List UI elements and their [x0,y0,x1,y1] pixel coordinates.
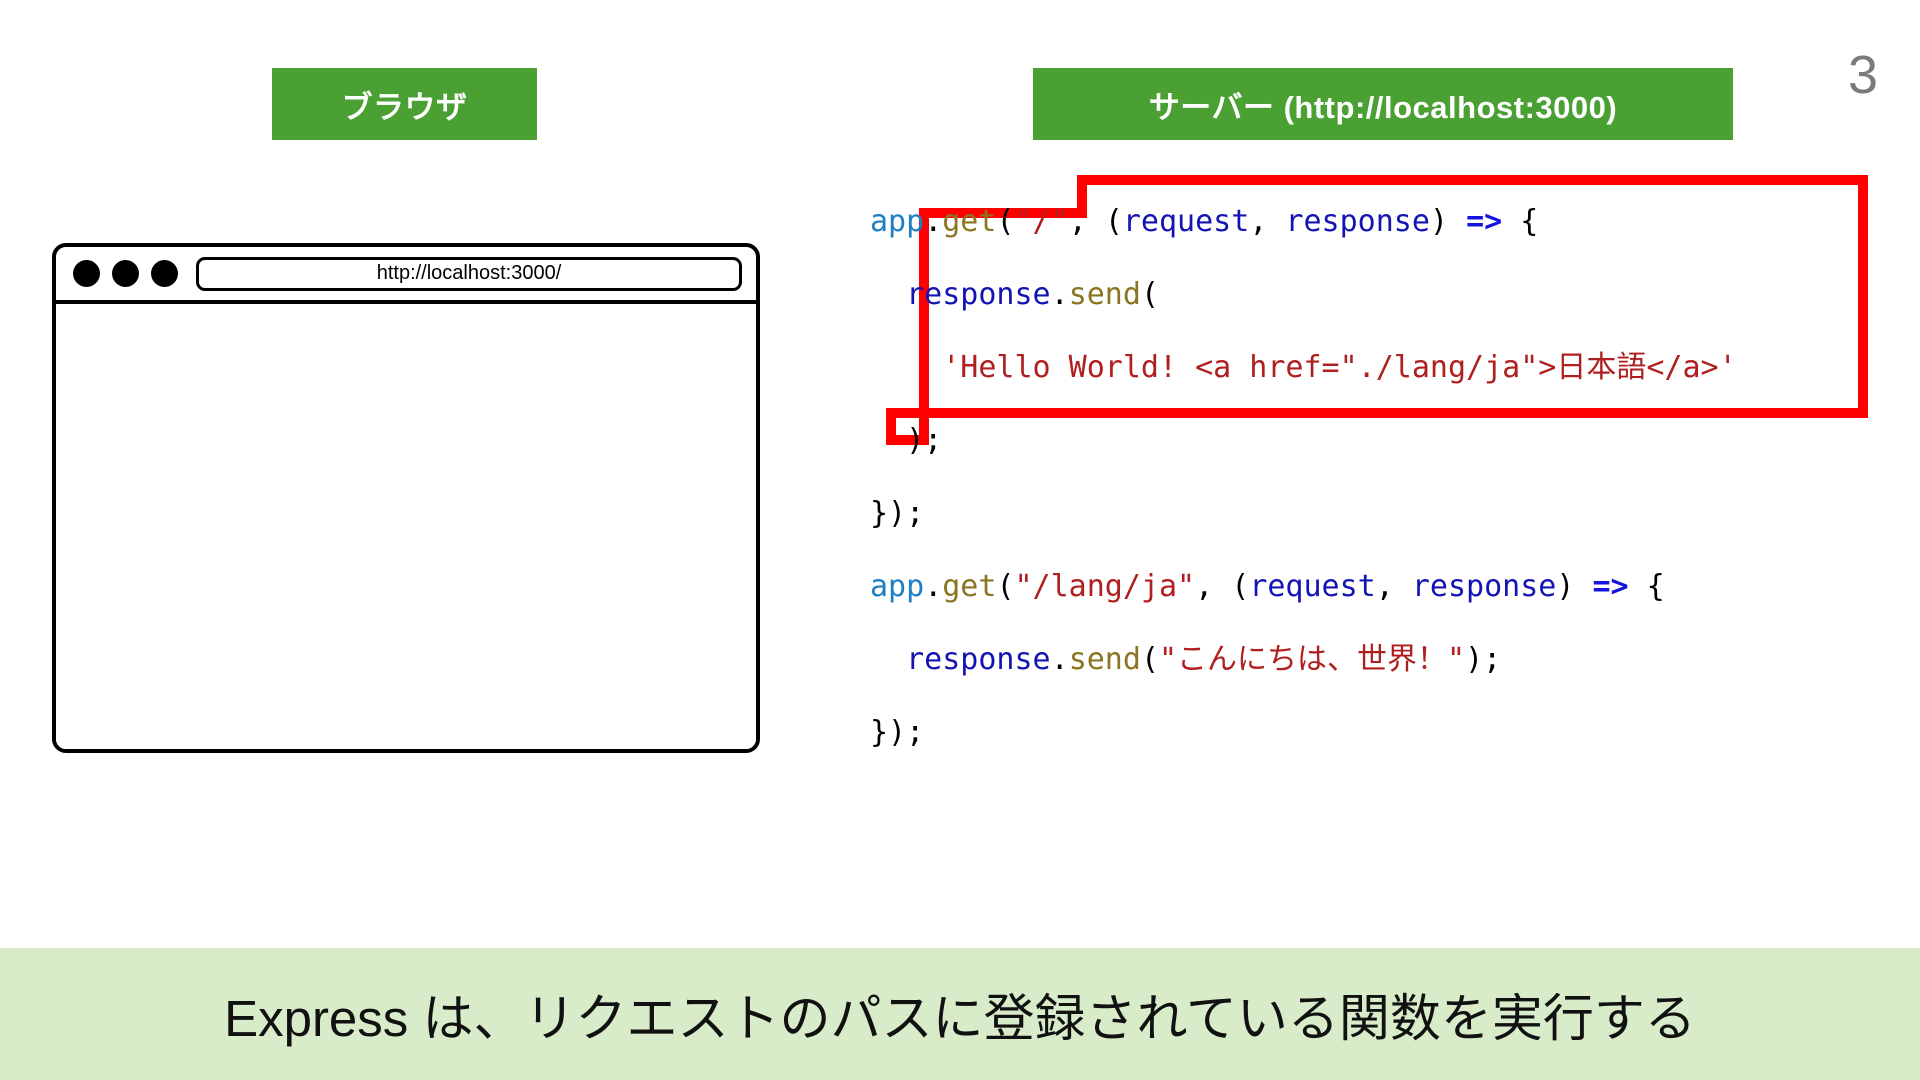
code-token-punctuation: . [924,204,942,239]
code-token-method: get [942,204,996,239]
code-token-punctuation: , [1195,569,1231,604]
code-token-punctuation: , [1069,204,1105,239]
code-token-punctuation: ) [1430,204,1448,239]
code-token-object: app [870,569,924,604]
code-token-arrow: => [1466,204,1502,239]
code-token-param: request [1123,204,1249,239]
caption-bar: Express は、リクエストのパスに登録されている関数を実行する [0,948,1920,1080]
traffic-light-group [73,260,178,287]
code-token-object: app [870,204,924,239]
code-line: }); [870,696,1737,769]
code-line: response.send( [870,258,1737,331]
browser-chrome: http://localhost:3000/ [56,247,756,304]
code-token-arrow: => [1593,569,1629,604]
code-token-punctuation: ( [1231,569,1249,604]
code-token-punctuation [870,642,906,677]
code-token-string: 'Hello World! <a href="./lang/ja">日本語</a… [942,350,1736,385]
code-token-punctuation: }); [870,715,924,750]
code-line: }); [870,477,1737,550]
code-token-punctuation: ) [1556,569,1574,604]
code-token-punctuation: ); [1465,642,1501,677]
code-line: 'Hello World! <a href="./lang/ja">日本語</a… [870,331,1737,404]
code-line: app.get("/lang/ja", (request, response) … [870,550,1737,623]
code-token-punctuation: { [1629,569,1665,604]
url-bar-input[interactable]: http://localhost:3000/ [196,257,742,291]
code-token-punctuation [870,277,906,312]
code-line: ); [870,404,1737,477]
code-line: app.get("/", (request, response) => { [870,185,1737,258]
code-token-punctuation [1574,569,1592,604]
code-token-string: "こんにちは、世界！" [1159,642,1465,677]
code-token-punctuation: ( [996,204,1014,239]
code-token-punctuation [870,350,942,385]
code-token-punctuation: ( [996,569,1014,604]
code-block: app.get("/", (request, response) => { re… [870,185,1737,769]
code-token-method: send [1069,642,1141,677]
code-token-param: response [1285,204,1430,239]
code-line: response.send("こんにちは、世界！"); [870,623,1737,696]
code-token-param: response [906,277,1051,312]
banner-server: サーバー (http://localhost:3000) [1033,68,1733,140]
page-number: 3 [1848,48,1878,102]
code-token-punctuation: . [924,569,942,604]
code-token-punctuation: ( [1141,642,1159,677]
code-token-punctuation [1448,204,1466,239]
code-token-string: "/lang/ja" [1015,569,1196,604]
code-token-punctuation: , [1376,569,1412,604]
code-token-punctuation: , [1249,204,1285,239]
code-token-punctuation: }); [870,496,924,531]
caption-text: Express は、リクエストのパスに登録されている関数を実行する [224,977,1696,1051]
code-token-punctuation: ( [1141,277,1159,312]
code-token-method: get [942,569,996,604]
code-token-method: send [1069,277,1141,312]
code-token-param: request [1249,569,1375,604]
banner-browser: ブラウザ [272,68,537,140]
code-token-punctuation: . [1051,277,1069,312]
code-token-punctuation: ( [1105,204,1123,239]
code-token-punctuation: { [1502,204,1538,239]
code-token-string: "/" [1015,204,1069,239]
code-token-punctuation: ); [870,423,942,458]
minimize-dot-icon[interactable] [112,260,139,287]
maximize-dot-icon[interactable] [151,260,178,287]
code-token-param: response [906,642,1051,677]
code-token-param: response [1412,569,1557,604]
slide-root: 3 ブラウザ サーバー (http://localhost:3000) http… [0,0,1920,1080]
code-token-punctuation: . [1051,642,1069,677]
browser-window-mockup: http://localhost:3000/ [52,243,760,753]
browser-viewport [56,304,756,749]
close-dot-icon[interactable] [73,260,100,287]
